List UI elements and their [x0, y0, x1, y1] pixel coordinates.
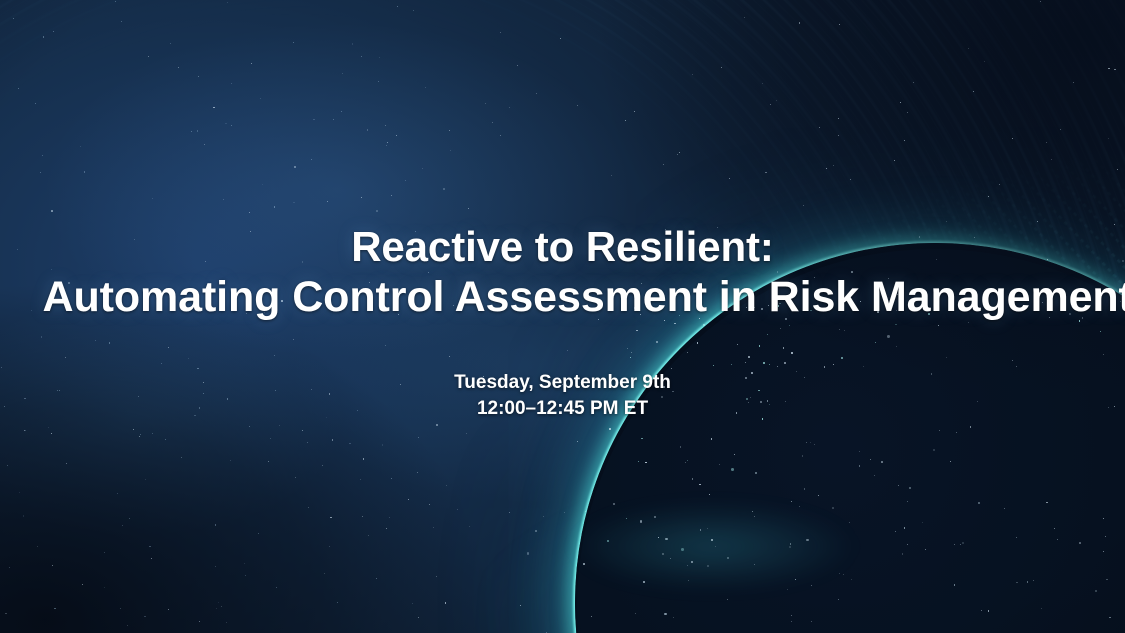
webinar-title-slide: Reactive to Resilient: Automating Contro…: [0, 0, 1125, 633]
schedule-date: Tuesday, September 9th: [454, 370, 671, 395]
schedule-time: 12:00–12:45 PM ET: [454, 396, 671, 421]
title-line-2: Automating Control Assessment in Risk Ma…: [43, 272, 1083, 323]
title-line-1: Reactive to Resilient:: [43, 222, 1083, 272]
schedule-block: Tuesday, September 9th 12:00–12:45 PM ET: [454, 370, 671, 421]
slide-content: Reactive to Resilient: Automating Contro…: [0, 0, 1125, 633]
page-title: Reactive to Resilient: Automating Contro…: [43, 222, 1083, 322]
